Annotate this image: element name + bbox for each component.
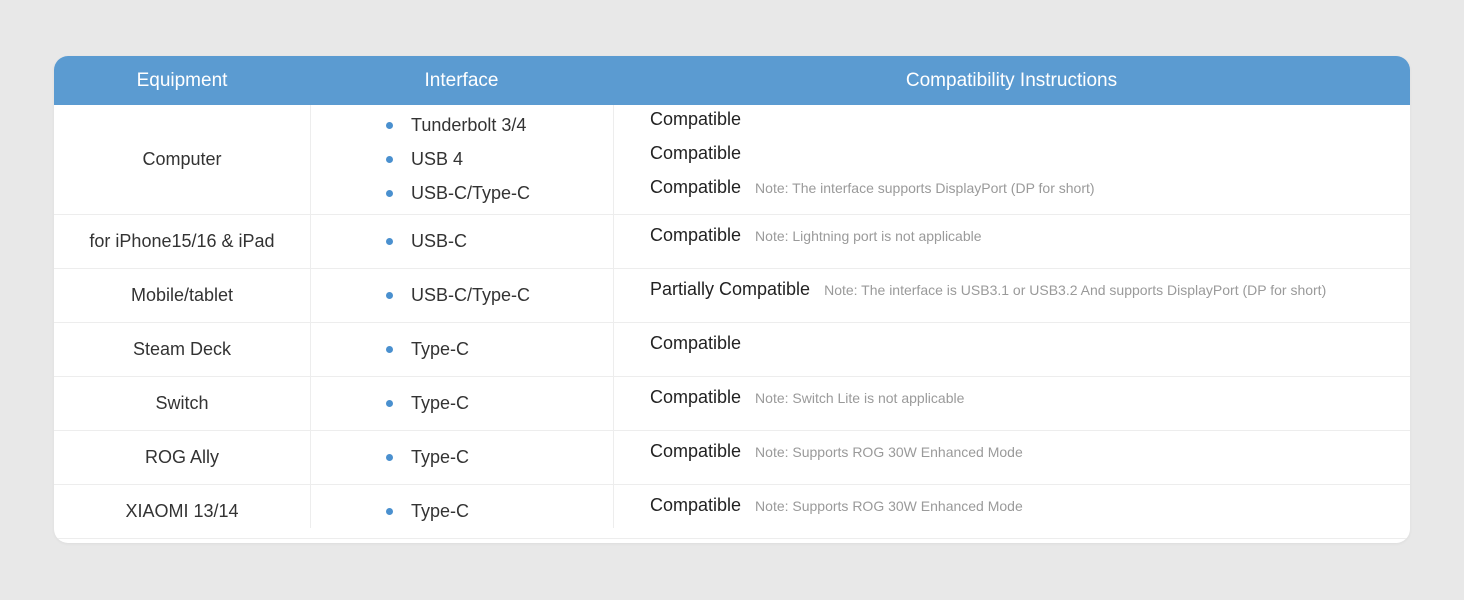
- compatibility-item: CompatibleNote: Supports ROG 30W Enhance…: [650, 441, 1410, 475]
- cell-equipment: Computer: [54, 105, 310, 214]
- cell-equipment: Steam Deck: [54, 323, 310, 376]
- compatibility-item: Compatible: [650, 109, 1410, 143]
- interface-item: USB-C/Type-C: [386, 279, 613, 313]
- cell-compatibility: CompatibleNote: Switch Lite is not appli…: [613, 377, 1410, 430]
- interface-item: Tunderbolt 3/4: [386, 109, 613, 143]
- compatibility-status: Compatible: [650, 143, 741, 164]
- table-row: SwitchType-CCompatibleNote: Switch Lite …: [54, 377, 1410, 431]
- interface-label: Tunderbolt 3/4: [411, 115, 526, 136]
- interface-label: Type-C: [411, 501, 469, 522]
- compatibility-item: CompatibleNote: Lightning port is not ap…: [650, 225, 1410, 259]
- column-header-equipment: Equipment: [54, 70, 310, 92]
- table-body: ComputerTunderbolt 3/4USB 4USB-C/Type-CC…: [54, 105, 1410, 539]
- column-header-compatibility: Compatibility Instructions: [613, 70, 1410, 92]
- compatibility-status: Compatible: [650, 495, 741, 516]
- compatibility-note: Note: Supports ROG 30W Enhanced Mode: [755, 444, 1023, 460]
- cell-compatibility: CompatibleNote: Supports ROG 30W Enhance…: [613, 485, 1410, 538]
- compatibility-item: Compatible: [650, 333, 1410, 367]
- table-row: for iPhone15/16 & iPadUSB-CCompatibleNot…: [54, 215, 1410, 269]
- column-divider-1: [310, 105, 311, 528]
- cell-interface: Tunderbolt 3/4USB 4USB-C/Type-C: [310, 105, 613, 214]
- cell-compatibility: CompatibleCompatibleCompatibleNote: The …: [613, 105, 1410, 214]
- cell-compatibility: Partially CompatibleNote: The interface …: [613, 269, 1410, 322]
- compatibility-item: CompatibleNote: Switch Lite is not appli…: [650, 387, 1410, 421]
- interface-item: Type-C: [386, 495, 613, 529]
- bullet-icon: [386, 190, 393, 197]
- table-row: Mobile/tabletUSB-C/Type-CPartially Compa…: [54, 269, 1410, 323]
- compatibility-note: Note: Supports ROG 30W Enhanced Mode: [755, 498, 1023, 514]
- cell-interface: Type-C: [310, 485, 613, 538]
- interface-item: USB-C/Type-C: [386, 177, 613, 211]
- compatibility-note: Note: Switch Lite is not applicable: [755, 390, 964, 406]
- compatibility-status: Compatible: [650, 333, 741, 354]
- bullet-icon: [386, 238, 393, 245]
- cell-interface: Type-C: [310, 431, 613, 484]
- compatibility-note: Note: The interface supports DisplayPort…: [755, 180, 1095, 196]
- interface-label: Type-C: [411, 393, 469, 414]
- interface-label: USB 4: [411, 149, 463, 170]
- interface-item: Type-C: [386, 441, 613, 475]
- compatibility-item: CompatibleNote: The interface supports D…: [650, 177, 1410, 211]
- table-row: Steam DeckType-CCompatible: [54, 323, 1410, 377]
- cell-compatibility: CompatibleNote: Lightning port is not ap…: [613, 215, 1410, 268]
- cell-interface: USB-C: [310, 215, 613, 268]
- cell-compatibility: CompatibleNote: Supports ROG 30W Enhance…: [613, 431, 1410, 484]
- column-header-interface: Interface: [310, 70, 613, 92]
- table-header-row: Equipment Interface Compatibility Instru…: [54, 56, 1410, 105]
- interface-item: USB 4: [386, 143, 613, 177]
- cell-equipment: Switch: [54, 377, 310, 430]
- compatibility-table-card: Equipment Interface Compatibility Instru…: [54, 56, 1410, 543]
- compatibility-status: Compatible: [650, 441, 741, 462]
- interface-label: Type-C: [411, 447, 469, 468]
- compatibility-item: Compatible: [650, 143, 1410, 177]
- cell-interface: Type-C: [310, 323, 613, 376]
- bullet-icon: [386, 122, 393, 129]
- cell-equipment: for iPhone15/16 & iPad: [54, 215, 310, 268]
- bullet-icon: [386, 508, 393, 515]
- cell-interface: Type-C: [310, 377, 613, 430]
- compatibility-item: Partially CompatibleNote: The interface …: [650, 279, 1410, 313]
- bullet-icon: [386, 292, 393, 299]
- compatibility-status: Compatible: [650, 177, 741, 198]
- cell-equipment: Mobile/tablet: [54, 269, 310, 322]
- table-row: XIAOMI 13/14Type-CCompatibleNote: Suppor…: [54, 485, 1410, 539]
- bullet-icon: [386, 156, 393, 163]
- compatibility-status: Compatible: [650, 225, 741, 246]
- compatibility-note: Note: The interface is USB3.1 or USB3.2 …: [824, 282, 1326, 298]
- interface-label: USB-C/Type-C: [411, 183, 530, 204]
- bullet-icon: [386, 454, 393, 461]
- interface-item: Type-C: [386, 333, 613, 367]
- compatibility-status: Compatible: [650, 109, 741, 130]
- bullet-icon: [386, 400, 393, 407]
- interface-item: USB-C: [386, 225, 613, 259]
- cell-equipment: XIAOMI 13/14: [54, 485, 310, 538]
- bullet-icon: [386, 346, 393, 353]
- table-row: ROG AllyType-CCompatibleNote: Supports R…: [54, 431, 1410, 485]
- table-row: ComputerTunderbolt 3/4USB 4USB-C/Type-CC…: [54, 105, 1410, 215]
- compatibility-status: Partially Compatible: [650, 279, 810, 300]
- compatibility-status: Compatible: [650, 387, 741, 408]
- interface-label: USB-C/Type-C: [411, 285, 530, 306]
- cell-equipment: ROG Ally: [54, 431, 310, 484]
- column-divider-2: [613, 105, 614, 528]
- page-root: Equipment Interface Compatibility Instru…: [0, 0, 1464, 600]
- cell-compatibility: Compatible: [613, 323, 1410, 376]
- compatibility-note: Note: Lightning port is not applicable: [755, 228, 981, 244]
- compatibility-item: CompatibleNote: Supports ROG 30W Enhance…: [650, 495, 1410, 529]
- interface-label: USB-C: [411, 231, 467, 252]
- interface-item: Type-C: [386, 387, 613, 421]
- cell-interface: USB-C/Type-C: [310, 269, 613, 322]
- interface-label: Type-C: [411, 339, 469, 360]
